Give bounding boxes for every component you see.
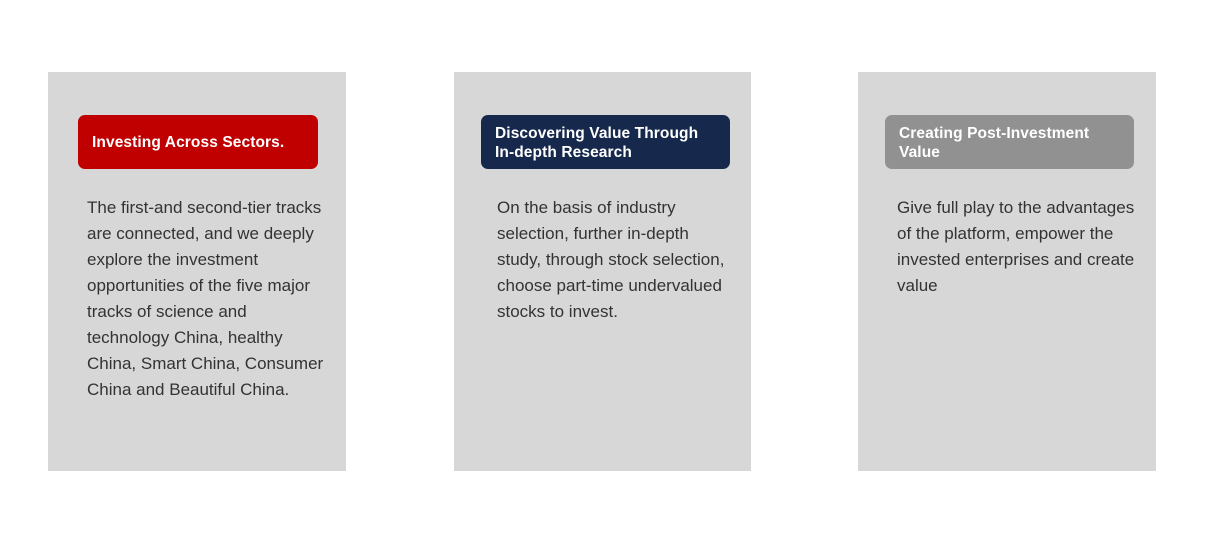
- card-investing-across-sectors: Investing Across Sectors. The first-and …: [48, 72, 346, 471]
- card-body-text: On the basis of industry selection, furt…: [497, 195, 729, 325]
- cards-board: Investing Across Sectors. The first-and …: [0, 0, 1212, 558]
- card-discovering-value-through-in-depth-research: Discovering Value Through In-depth Resea…: [454, 72, 751, 471]
- card-badge-title: Creating Post-Investment Value: [885, 115, 1134, 169]
- card-badge-title: Investing Across Sectors.: [78, 115, 318, 169]
- card-badge-title: Discovering Value Through In-depth Resea…: [481, 115, 730, 169]
- card-body-text: Give full play to the advantages of the …: [897, 195, 1139, 299]
- card-creating-post-investment-value: Creating Post-Investment Value Give full…: [858, 72, 1156, 471]
- card-body-text: The first-and second-tier tracks are con…: [87, 195, 327, 403]
